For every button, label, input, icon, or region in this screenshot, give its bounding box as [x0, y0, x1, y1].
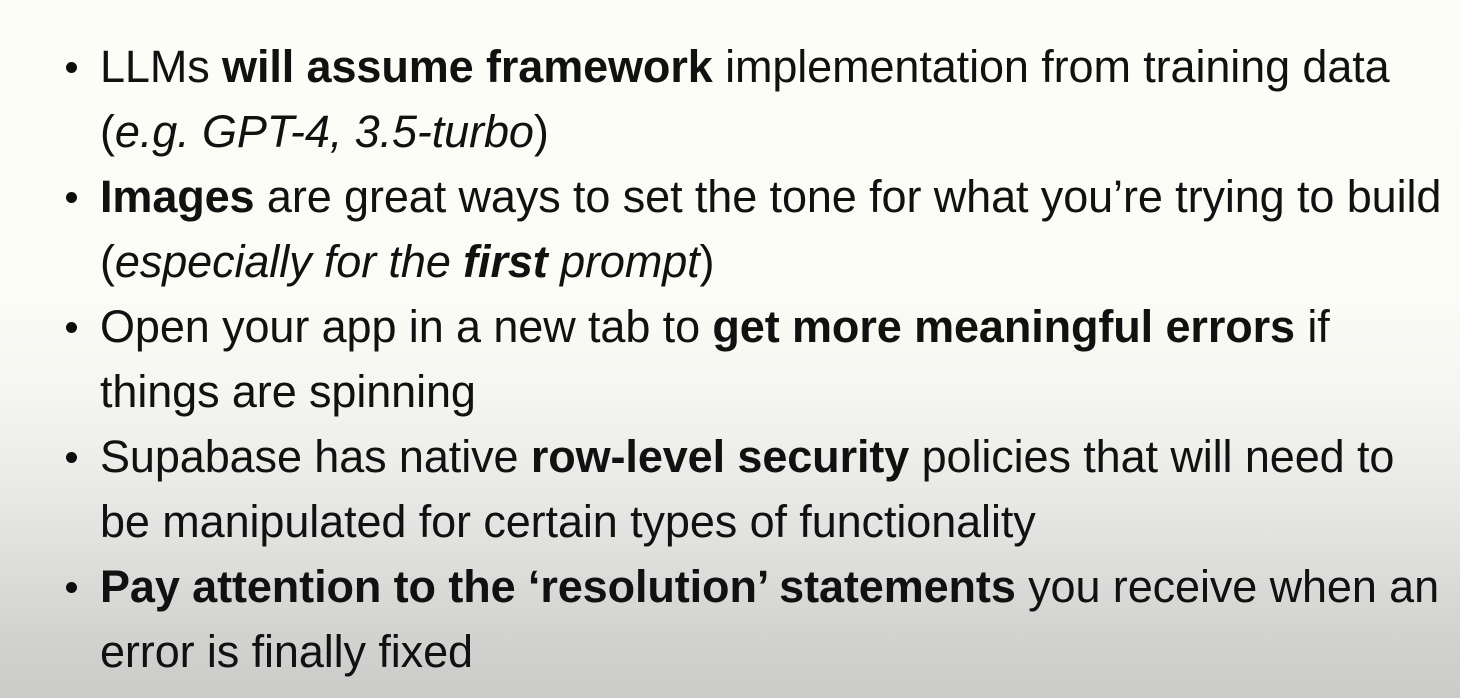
bullet-item: Pay attention to the ‘resolution’ statem… — [0, 554, 1460, 684]
bullet-text-segment: will assume framework — [222, 41, 713, 92]
bullet-text-segment: e.g. GPT-4, 3.5-turbo — [115, 106, 534, 157]
bullet-text-segment: Images — [100, 171, 254, 222]
bullet-text-segment: get more meaningful errors — [712, 301, 1295, 352]
bullet-text-segment: LLMs — [100, 41, 222, 92]
bullet-text-segment: Open your app in a new tab to — [100, 301, 712, 352]
bullet-text-segment: row-level security — [531, 431, 909, 482]
bullet-text-segment: Pay attention to the ‘resolution’ statem… — [100, 561, 1016, 612]
presentation-slide: LLMs will assume framework implementatio… — [0, 0, 1460, 698]
bullet-item: Open your app in a new tab to get more m… — [0, 294, 1460, 424]
bullet-text-segment: prompt — [548, 236, 700, 287]
bullet-list: LLMs will assume framework implementatio… — [0, 34, 1460, 684]
bullet-text-segment: especially for the — [115, 236, 463, 287]
bullet-item: Supabase has native row-level security p… — [0, 424, 1460, 554]
bullet-text-segment: Supabase has native — [100, 431, 531, 482]
bullet-item: LLMs will assume framework implementatio… — [0, 34, 1460, 164]
bullet-text-segment: ) — [534, 106, 549, 157]
bullet-text-segment: first — [463, 236, 548, 287]
bullet-text-segment: ) — [700, 236, 715, 287]
bullet-item: Images are great ways to set the tone fo… — [0, 164, 1460, 294]
